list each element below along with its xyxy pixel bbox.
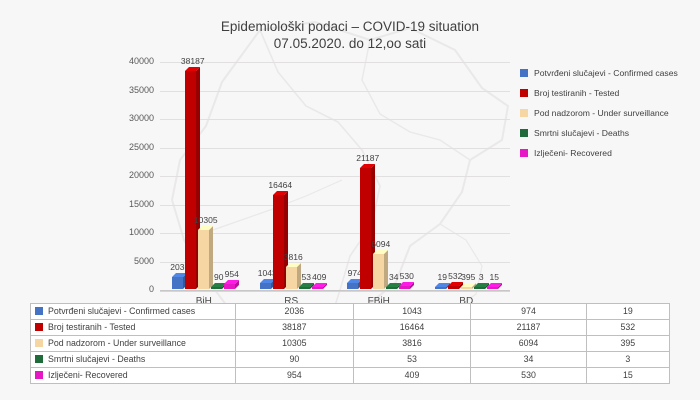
- bar[interactable]: [198, 230, 209, 289]
- bar-face: [211, 287, 222, 289]
- bar-face: [198, 230, 209, 289]
- legend-item[interactable]: Pod nadzorom - Under surveillance: [520, 108, 696, 118]
- table-row-label: Pod nadzorom - Under surveillance: [31, 336, 236, 352]
- bar-side: [209, 226, 213, 289]
- table-row: Izlječeni- Recovered95440953015: [31, 368, 670, 384]
- table-row-swatch: [35, 307, 43, 315]
- bar-value-label: 38187: [181, 56, 205, 66]
- chart-legend: Potvrđeni slučajevi - Confirmed casesBro…: [520, 68, 696, 168]
- y-axis-tick-label: 20000: [129, 170, 154, 180]
- bar[interactable]: [399, 286, 410, 289]
- bar[interactable]: [448, 286, 459, 289]
- table-cell: 10305: [236, 336, 354, 352]
- bar-value-label: 6094: [371, 239, 390, 249]
- bar[interactable]: [260, 283, 271, 289]
- table-row-swatch: [35, 339, 43, 347]
- bar-value-label: 395: [461, 272, 475, 282]
- table-cell: 530: [471, 368, 586, 384]
- bar-face: [224, 284, 235, 289]
- y-axis-tick-label: 40000: [129, 56, 154, 66]
- bar-group: 104316464381653409: [260, 61, 323, 289]
- bar-face: [299, 287, 310, 289]
- plot-area: 0500010000150002000025000300003500040000…: [160, 62, 510, 290]
- bar-face: [386, 287, 397, 289]
- legend-label: Smrtni slučajevi - Deaths: [534, 128, 629, 138]
- legend-item[interactable]: Izlječeni- Recovered: [520, 148, 696, 158]
- legend-item[interactable]: Potvrđeni slučajevi - Confirmed cases: [520, 68, 696, 78]
- table-cell: 409: [353, 368, 471, 384]
- table-row-swatch: [35, 323, 43, 331]
- bar-side: [384, 250, 388, 289]
- bar-value-label: 10305: [194, 215, 218, 225]
- bar-face: [474, 287, 485, 289]
- table-header-cell: 1043: [353, 304, 471, 320]
- bar[interactable]: [172, 277, 183, 289]
- table-header-cell: 2036: [236, 304, 354, 320]
- table-row-label: Broj testiranih - Tested: [31, 320, 236, 336]
- bar[interactable]: [435, 287, 446, 289]
- table-row-label: Izlječeni- Recovered: [31, 368, 236, 384]
- bar-face: [172, 277, 183, 289]
- legend-item[interactable]: Smrtni slučajevi - Deaths: [520, 128, 696, 138]
- table-row: Broj testiranih - Tested3818716464211875…: [31, 320, 670, 336]
- bar[interactable]: [474, 287, 485, 289]
- bar[interactable]: [286, 267, 297, 289]
- table-cell: 90: [236, 352, 354, 368]
- table-cell: 38187: [236, 320, 354, 336]
- table-row-swatch: [35, 371, 43, 379]
- bar-face: [399, 286, 410, 289]
- y-axis-tick-label: 30000: [129, 113, 154, 123]
- bar[interactable]: [360, 168, 371, 289]
- chart-title-line2: 07.05.2020. do 12,oo sati: [130, 35, 570, 52]
- bar[interactable]: [185, 71, 196, 289]
- bar-value-label: 90: [214, 272, 223, 282]
- table-cell: 21187: [471, 320, 586, 336]
- bar-value-label: 21187: [356, 153, 379, 163]
- bar-value-label: 34: [389, 272, 398, 282]
- legend-label: Broj testiranih - Tested: [534, 88, 619, 98]
- y-axis-tick-label: 0: [149, 284, 154, 294]
- y-axis-tick-label: 25000: [129, 142, 154, 152]
- legend-label: Potvrđeni slučajevi - Confirmed cases: [534, 68, 678, 78]
- legend-label: Pod nadzorom - Under surveillance: [534, 108, 669, 118]
- table-cell: 15: [586, 368, 669, 384]
- bar-group: 2036381871030590954: [172, 61, 235, 289]
- table-row-swatch: [35, 355, 43, 363]
- bar[interactable]: [299, 287, 310, 289]
- bar-value-label: 16464: [268, 180, 292, 190]
- bar-value-label: 3: [479, 272, 484, 282]
- table-cell: 53: [353, 352, 471, 368]
- bar[interactable]: [487, 287, 498, 289]
- bar-face: [461, 287, 472, 289]
- bar-face: [435, 287, 446, 289]
- table-cell: 3816: [353, 336, 471, 352]
- bar-face: [312, 287, 323, 289]
- y-axis-tick-label: 15000: [129, 199, 154, 209]
- y-axis-tick-label: 10000: [129, 227, 154, 237]
- table-header-cell: Potvrđeni slučajevi - Confirmed cases: [31, 304, 236, 320]
- table-row-label: Smrtni slučajevi - Deaths: [31, 352, 236, 368]
- table-cell: 532: [586, 320, 669, 336]
- bar[interactable]: [386, 287, 397, 289]
- bar-face: [487, 287, 498, 289]
- bar-face: [373, 254, 384, 289]
- table-cell: 16464: [353, 320, 471, 336]
- bar-face: [448, 286, 459, 289]
- data-table-body: Potvrđeni slučajevi - Confirmed cases203…: [31, 304, 670, 384]
- bar[interactable]: [211, 287, 222, 289]
- table-header-cell: 19: [586, 304, 669, 320]
- table-cell: 6094: [471, 336, 586, 352]
- chart-title: Epidemiološki podaci – COVID-19 situatio…: [130, 18, 570, 52]
- data-table: Potvrđeni slučajevi - Confirmed cases203…: [30, 303, 670, 384]
- x-axis-line-shadow: [160, 291, 510, 292]
- table-row: Smrtni slučajevi - Deaths9053343: [31, 352, 670, 368]
- legend-swatch: [520, 69, 528, 77]
- bar[interactable]: [273, 195, 284, 289]
- bar-group: 97421187609434530: [347, 61, 410, 289]
- legend-swatch: [520, 89, 528, 97]
- table-header-row: Potvrđeni slučajevi - Confirmed cases203…: [31, 304, 670, 320]
- chart-title-line1: Epidemiološki podaci – COVID-19 situatio…: [130, 18, 570, 35]
- bar-face: [286, 267, 297, 289]
- legend-label: Izlječeni- Recovered: [534, 148, 612, 158]
- table-cell: 395: [586, 336, 669, 352]
- table-cell: 34: [471, 352, 586, 368]
- bar-value-label: 530: [400, 271, 414, 281]
- table-row: Pod nadzorom - Under surveillance1030538…: [31, 336, 670, 352]
- bar-face: [347, 283, 358, 289]
- bar-value-label: 3816: [284, 252, 303, 262]
- bar[interactable]: [373, 254, 384, 289]
- table-cell: 954: [236, 368, 354, 384]
- bar-group: 19532395315: [435, 61, 498, 289]
- table-cell: 3: [586, 352, 669, 368]
- chart-container: Epidemiološki podaci – COVID-19 situatio…: [0, 0, 700, 400]
- bar-value-label: 409: [312, 272, 326, 282]
- bar[interactable]: [461, 287, 472, 289]
- bar-value-label: 15: [490, 272, 499, 282]
- table-header-cell: 974: [471, 304, 586, 320]
- bar[interactable]: [347, 283, 358, 289]
- bar-face: [185, 71, 196, 289]
- legend-swatch: [520, 129, 528, 137]
- bar-face: [360, 168, 371, 289]
- bar[interactable]: [224, 284, 235, 289]
- bar-value-label: 954: [225, 269, 239, 279]
- y-axis-tick-label: 35000: [129, 85, 154, 95]
- bar[interactable]: [312, 287, 323, 289]
- bar-value-label: 19: [438, 272, 447, 282]
- legend-swatch: [520, 149, 528, 157]
- bar-value-label: 53: [302, 272, 311, 282]
- legend-item[interactable]: Broj testiranih - Tested: [520, 88, 696, 98]
- legend-swatch: [520, 109, 528, 117]
- y-axis-tick-label: 5000: [134, 256, 154, 266]
- bar-face: [273, 195, 284, 289]
- bar-face: [260, 283, 271, 289]
